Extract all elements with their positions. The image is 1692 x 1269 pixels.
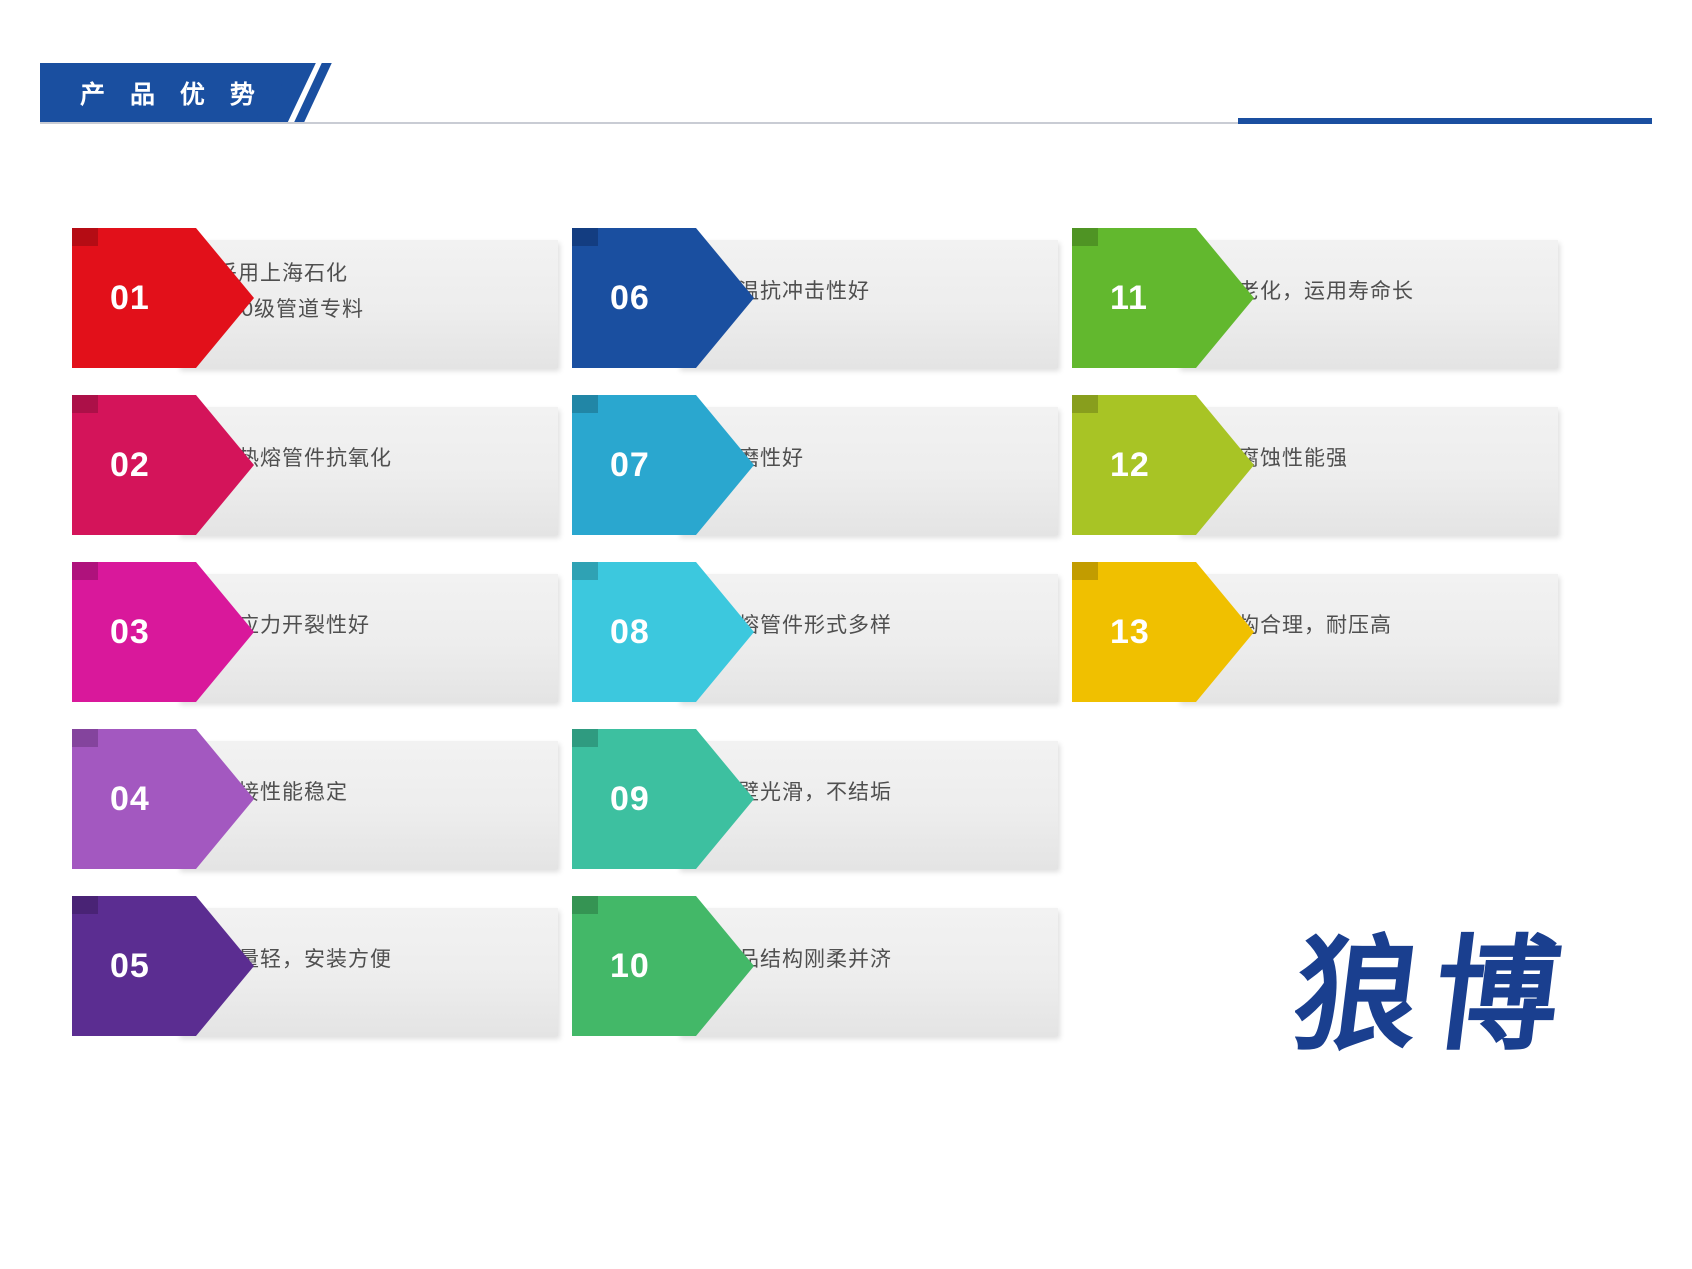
advantage-number: 06	[610, 279, 650, 318]
logo-character: 博	[1426, 930, 1568, 1068]
tag-fold-corner-icon	[1072, 228, 1098, 246]
advantage-number: 05	[110, 947, 150, 986]
advantage-text-line: 低温抗冲击性好	[716, 274, 1046, 310]
tag-fold-corner-icon	[1072, 395, 1098, 413]
advantage-text-line: 耐老化，运用寿命长	[1216, 274, 1546, 310]
advantage-number: 07	[610, 446, 650, 485]
advantages-grid: 采用上海石化100级管道专料01电热熔管件抗氧化02抗应力开裂性好03焊接性能稳…	[0, 0, 1692, 1269]
tag-fold-corner-icon	[1072, 562, 1098, 580]
advantage-text: 采用上海石化100级管道专料	[216, 228, 546, 356]
advantage-number: 03	[110, 613, 150, 652]
advantage-item: 结构合理，耐压高13	[1068, 562, 1558, 702]
advantage-text: 结构合理，耐压高	[1216, 562, 1546, 690]
advantage-text: 产品结构刚柔并济	[716, 896, 1046, 1024]
advantage-number: 11	[1110, 279, 1148, 318]
advantage-text-line: 内壁光滑，不结垢	[716, 775, 1046, 811]
tag-fold-corner-icon	[72, 228, 98, 246]
tag-fold-corner-icon	[572, 896, 598, 914]
advantage-number: 10	[610, 947, 650, 986]
advantage-text: 耐老化，运用寿命长	[1216, 228, 1546, 356]
brand-logo: 狼博	[1295, 930, 1595, 1070]
tag-fold-corner-icon	[572, 228, 598, 246]
advantage-item: 电热熔管件抗氧化02	[68, 395, 558, 535]
advantage-item: 耐磨性好07	[568, 395, 1058, 535]
advantage-text-line: 采用上海石化	[216, 256, 546, 292]
advantage-text: 电熔管件形式多样	[716, 562, 1046, 690]
advantage-item: 内壁光滑，不结垢09	[568, 729, 1058, 869]
tag-fold-corner-icon	[72, 395, 98, 413]
advantage-text-line: 抗应力开裂性好	[216, 608, 546, 644]
tag-fold-corner-icon	[72, 896, 98, 914]
advantage-item: 采用上海石化100级管道专料01	[68, 228, 558, 368]
advantage-number: 02	[110, 446, 150, 485]
advantage-item: 抗应力开裂性好03	[68, 562, 558, 702]
advantage-text-line: 电熔管件形式多样	[716, 608, 1046, 644]
tag-fold-corner-icon	[72, 729, 98, 747]
advantage-number: 13	[1110, 613, 1150, 652]
advantage-text: 内壁光滑，不结垢	[716, 729, 1046, 857]
advantage-number: 12	[1110, 446, 1150, 485]
tag-fold-corner-icon	[572, 729, 598, 747]
advantage-item: 耐老化，运用寿命长11	[1068, 228, 1558, 368]
advantage-text: 抗应力开裂性好	[216, 562, 546, 690]
advantage-text: 抗腐蚀性能强	[1216, 395, 1546, 523]
advantage-item: 产品结构刚柔并济10	[568, 896, 1058, 1036]
advantage-item: 电熔管件形式多样08	[568, 562, 1058, 702]
advantage-text-line: 100级管道专料	[216, 292, 546, 328]
advantage-text-line: 抗腐蚀性能强	[1216, 441, 1546, 477]
advantage-text: 电热熔管件抗氧化	[216, 395, 546, 523]
advantage-text-line: 焊接性能稳定	[216, 775, 546, 811]
advantage-number: 08	[610, 613, 650, 652]
advantage-text: 焊接性能稳定	[216, 729, 546, 857]
tag-fold-corner-icon	[72, 562, 98, 580]
advantage-text-line: 产品结构刚柔并济	[716, 942, 1046, 978]
advantage-number: 04	[110, 780, 150, 819]
advantage-text-line: 结构合理，耐压高	[1216, 608, 1546, 644]
advantage-text-line: 重量轻，安装方便	[216, 942, 546, 978]
advantage-text: 重量轻，安装方便	[216, 896, 546, 1024]
advantage-item: 焊接性能稳定04	[68, 729, 558, 869]
advantage-number: 01	[110, 279, 150, 318]
tag-fold-corner-icon	[572, 395, 598, 413]
logo-mark-icon: 狼博	[1295, 930, 1595, 1070]
advantage-text: 耐磨性好	[716, 395, 1046, 523]
advantage-text-line: 耐磨性好	[716, 441, 1046, 477]
advantage-number: 09	[610, 780, 650, 819]
advantage-item: 重量轻，安装方便05	[68, 896, 558, 1036]
tag-fold-corner-icon	[572, 562, 598, 580]
advantage-text-line: 电热熔管件抗氧化	[216, 441, 546, 477]
logo-character: 狼	[1295, 930, 1428, 1068]
advantage-text: 低温抗冲击性好	[716, 228, 1046, 356]
advantage-item: 抗腐蚀性能强12	[1068, 395, 1558, 535]
advantage-item: 低温抗冲击性好06	[568, 228, 1058, 368]
